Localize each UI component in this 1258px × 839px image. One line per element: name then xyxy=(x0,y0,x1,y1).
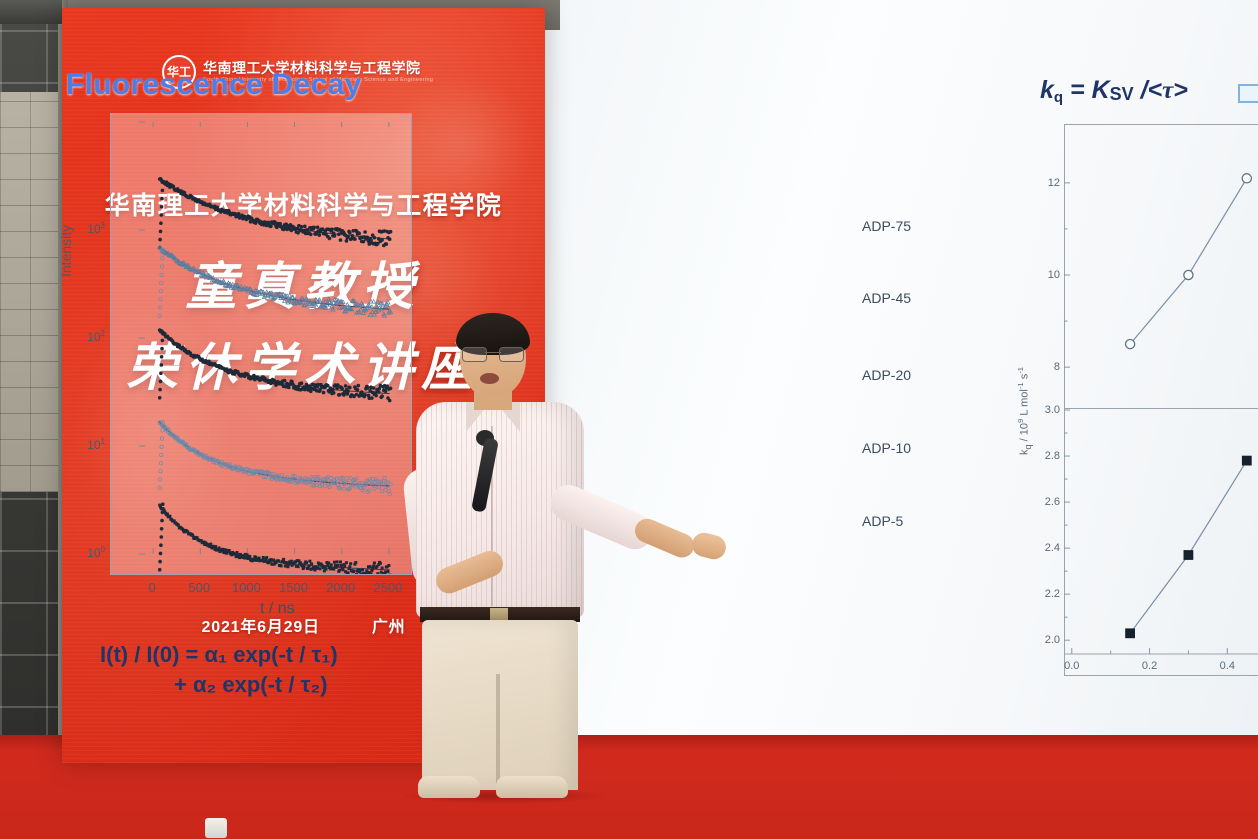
kq-lower-ytick: 3.0 xyxy=(1024,404,1060,416)
decay-xtick: 0 xyxy=(149,580,156,595)
fluorescence-decay-chart xyxy=(110,113,412,575)
presenter-mouth xyxy=(480,373,499,384)
decay-xtick: 500 xyxy=(188,580,210,595)
kq-xtick: 0.2 xyxy=(1142,660,1157,672)
floor-object xyxy=(205,818,227,838)
kq-lower-ytick: 2.2 xyxy=(1024,588,1060,600)
decay-x-axis-ticks: 05001000150020002500 xyxy=(110,578,410,600)
decay-series-label: ADP-5 xyxy=(862,513,903,529)
kq-lower-ytick: 2.8 xyxy=(1024,450,1060,462)
kq-upper-ytick: 10 xyxy=(1030,269,1060,281)
decay-ytick: 100 xyxy=(87,545,105,560)
slide-edge-chip-icon xyxy=(1238,84,1258,103)
kq-upper-ytick: 8 xyxy=(1030,361,1060,373)
kq-equals: = xyxy=(1070,76,1092,104)
kq-slash: /< xyxy=(1134,76,1163,104)
decay-series-label: ADP-10 xyxy=(862,440,911,456)
ceiling-strip xyxy=(0,0,62,24)
kq-xtick: 0.0 xyxy=(1064,660,1079,672)
kq-lower-ytick: 2.4 xyxy=(1024,542,1060,554)
kq-subscript-q: q xyxy=(1054,89,1063,106)
kq-tau: τ xyxy=(1162,77,1173,104)
presentation-photo: 华工 华南理工大学材料科学与工程学院 South China Universit… xyxy=(0,0,1258,839)
eyeglass-lens-right xyxy=(499,347,524,362)
decay-series-label: ADP-75 xyxy=(862,218,911,234)
presenter-leg-seam xyxy=(496,674,500,790)
kq-xtick: 0.4 xyxy=(1220,660,1235,672)
decay-y-axis-ticks: 100101102103 xyxy=(55,113,107,573)
decay-xtick: 2000 xyxy=(326,580,355,595)
presenter-shoe-left xyxy=(418,776,480,798)
stone-wall-band xyxy=(0,92,58,492)
decay-xtick: 1000 xyxy=(232,580,261,595)
eyeglass-lens-left xyxy=(462,347,487,362)
kq-upper-ytick: 12 xyxy=(1030,177,1060,189)
kq-equation: kq = KSV /<τ> xyxy=(1040,76,1188,106)
slide-title: Fluorescence Decay xyxy=(66,68,362,102)
presenter xyxy=(374,318,644,788)
presenter-shoe-right xyxy=(496,776,568,798)
kq-lower-ytick: 2.0 xyxy=(1024,634,1060,646)
decay-series-label: ADP-45 xyxy=(862,290,911,306)
decay-ytick: 102 xyxy=(87,329,105,344)
decay-ytick: 103 xyxy=(87,221,105,236)
decay-plot-area xyxy=(111,114,411,574)
kq-plot-area xyxy=(1028,142,1258,662)
kq-subscript-sv: SV xyxy=(1110,84,1134,104)
decay-xtick: 1500 xyxy=(279,580,308,595)
presenter-eyeglasses-icon xyxy=(462,347,524,360)
equation-line-1: I(t) / I(0) = α₁ exp(-t / τ₁) xyxy=(100,642,338,667)
decay-ytick: 101 xyxy=(87,437,105,452)
decay-series-label: ADP-20 xyxy=(862,367,911,383)
kq-lower-ytick: 2.6 xyxy=(1024,496,1060,508)
presenter-trousers xyxy=(422,620,578,790)
kq-close: > xyxy=(1173,76,1188,104)
